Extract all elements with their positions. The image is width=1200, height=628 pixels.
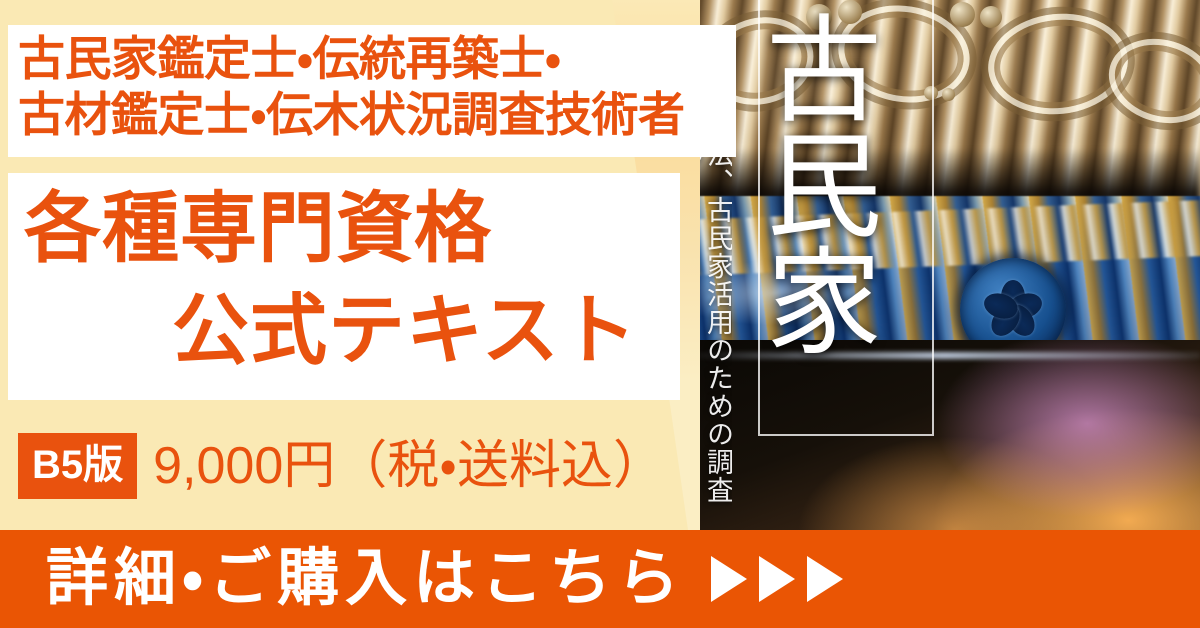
cover-bead <box>950 2 975 27</box>
cta-bar[interactable]: 詳細・ご購入はこちら <box>0 530 1200 628</box>
book-cover-image: 古民家 伝統構法、古民家活用のための調査と再生の <box>688 0 1200 530</box>
headline-line-2: 古材鑑定士・伝木状況調査技術者 <box>18 87 734 143</box>
format-badge: B5版 <box>18 433 137 499</box>
headline: 古民家鑑定士・伝統再築士・ 古材鑑定士・伝木状況調査技術者 <box>18 31 734 143</box>
triangle-right-icon <box>759 556 795 602</box>
cta-label[interactable]: 詳細・ご購入はこちら <box>46 548 685 610</box>
triangle-right-icon <box>711 556 747 602</box>
cover-bead <box>980 6 1002 28</box>
main-title-line-1: 各種専門資格 <box>20 178 672 280</box>
main-title: 各種専門資格 公式テキスト <box>20 178 672 383</box>
headline-line-1: 古民家鑑定士・伝統再築士・ <box>18 31 734 87</box>
price-row: B5版 9,000円（税・送料込） <box>18 428 665 504</box>
cover-title: 古民家 <box>766 10 922 430</box>
main-title-line-2: 公式テキスト <box>20 280 672 382</box>
price-text: 9,000円（税・送料込） <box>153 440 665 492</box>
cta-arrow-group <box>711 556 843 602</box>
triangle-right-icon <box>807 556 843 602</box>
cover-bead <box>942 88 955 101</box>
promo-banner: 古民家 伝統構法、古民家活用のための調査と再生の 古民家鑑定士・伝統再築士・ 古… <box>0 0 1200 628</box>
